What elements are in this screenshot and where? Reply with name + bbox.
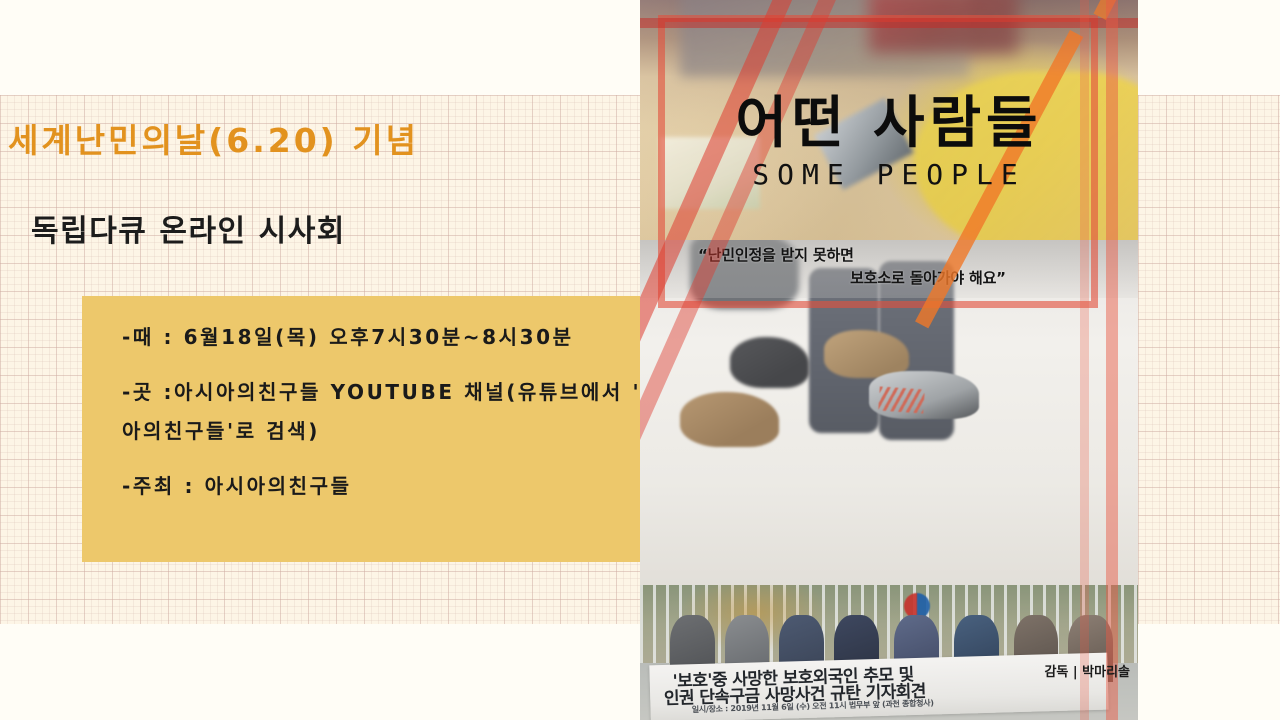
event-detail-host: -주최 : 아시아의친구들 bbox=[122, 467, 692, 506]
documentary-poster: “난민인정을 받지 못하면 보호소로 돌아가야 해요” '보호'중 사망한 보호… bbox=[640, 0, 1138, 720]
poster-photo-bottom: '보호'중 사망한 보호외국인 추모 및 인권 단속구금 사망사건 규탄 기자회… bbox=[640, 585, 1138, 720]
grid-pattern-right bbox=[1138, 95, 1280, 624]
poster-director-credit: 감독 | 박마리솔 bbox=[1044, 661, 1130, 680]
poster-title-english: SOME PEOPLE bbox=[640, 158, 1138, 191]
event-details-box: -때 : 6월18일(목) 오후7시30분~8시30분 -곳 :아시아의친구들 … bbox=[82, 296, 722, 562]
event-detail-time: -때 : 6월18일(목) 오후7시30분~8시30분 bbox=[122, 318, 692, 357]
protest-banner: '보호'중 사망한 보호외국인 추모 및 인권 단속구금 사망사건 규탄 기자회… bbox=[649, 653, 1109, 720]
poster-quote-line2: 보호소로 돌아가야 해요” bbox=[698, 267, 1108, 290]
photo-shoe-dark bbox=[730, 337, 810, 389]
poster-title-korean: 어떤 사람들 bbox=[640, 95, 1138, 154]
event-detail-place: -곳 :아시아의친구들 YOUTUBE 채널(유튜브에서 '아시아의친구들'로 … bbox=[122, 373, 692, 451]
slide-headline: 세계난민의날(6.20) 기념 bbox=[8, 114, 419, 162]
poster-title-block: 어떤 사람들 SOME PEOPLE bbox=[640, 95, 1138, 191]
photo-shoe-tan bbox=[680, 392, 780, 447]
poster-quote-line1: “난민인정을 받지 못하면 bbox=[698, 246, 854, 264]
slide-subheading: 독립다큐 온라인 시사회 bbox=[31, 206, 346, 250]
presentation-slide: 세계난민의날(6.20) 기념 독립다큐 온라인 시사회 -때 : 6월18일(… bbox=[0, 0, 1280, 720]
poster-quote: “난민인정을 받지 못하면 보호소로 돌아가야 해요” bbox=[698, 244, 1108, 291]
poster-photo-middle: “난민인정을 받지 못하면 보호소로 돌아가야 해요” bbox=[640, 240, 1138, 585]
photo-shoe-stripes bbox=[878, 387, 924, 414]
